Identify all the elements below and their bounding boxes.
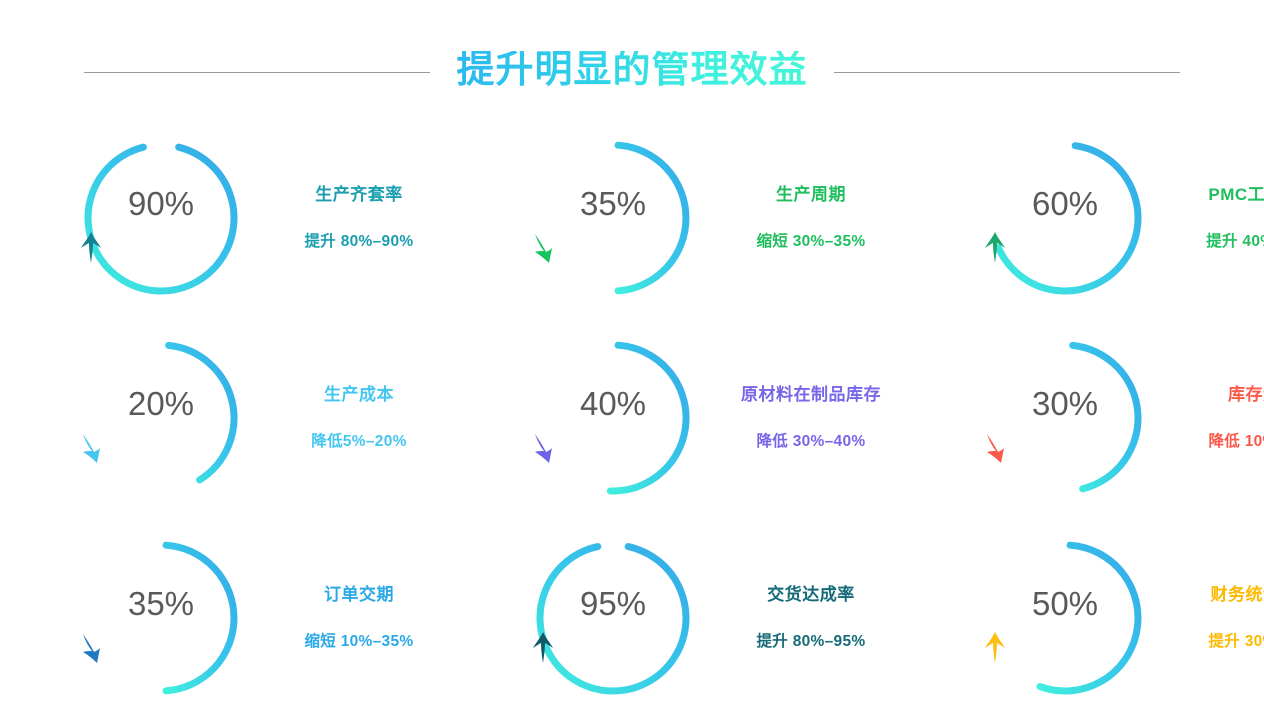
gauge-ring: 35% [530,135,696,301]
page-header: 提升明显的管理效益 [0,40,1264,104]
gauge-ring: 95% [530,535,696,701]
trend-down-icon [982,431,1148,465]
metric-card: 50%财务统计效率提升 30%–50% [904,518,1264,718]
gauge-value: 35% [530,187,696,220]
metric-text: 库存资金降低 10%–30% [1170,385,1264,452]
gauge-ring: 40% [530,335,696,501]
metric-sub-label: 提升 80%–90% [305,233,414,252]
gauge-value: 60% [982,187,1148,220]
gauge-ring: 20% [78,335,244,501]
gauge-value: 20% [78,387,244,420]
metric-sub-label: 降低 30%–40% [757,433,866,452]
metric-card: 35%生产周期缩短 30%–35% [452,118,904,318]
metric-sub-label: 提升 40%–60 % [1206,233,1264,252]
metric-card: 40%原材料在制品库存降低 30%–40% [452,318,904,518]
metric-card: 90%生产齐套率提升 80%–90% [0,118,452,318]
metric-sub-label: 降低 10%–30% [1209,433,1264,452]
trend-up-icon [982,631,1148,665]
gauge-ring: 50% [982,535,1148,701]
gauge-value: 40% [530,387,696,420]
header-rule-left [84,72,430,73]
gauge-value: 90% [78,187,244,220]
metric-label: 生产齐套率 [315,185,403,205]
header-rule-right [834,72,1180,73]
metric-card: 60%PMC工作效率提升 40%–60 % [904,118,1264,318]
gauge-ring: 30% [982,335,1148,501]
trend-down-icon [78,631,244,665]
gauge-value: 95% [530,587,696,620]
gauge-value: 50% [982,587,1148,620]
metric-text: 生产周期缩短 30%–35% [718,185,904,252]
metric-sub-label: 降低5%–20% [311,433,406,452]
metric-label: 生产周期 [776,185,846,205]
metric-text: 生产齐套率提升 80%–90% [266,185,452,252]
metric-label: 原材料在制品库存 [741,385,881,405]
metric-card: 20%生产成本降低5%–20% [0,318,452,518]
gauge-ring: 60% [982,135,1148,301]
metric-text: 交货达成率提升 80%–95% [718,585,904,652]
page-title: 提升明显的管理效益 [456,51,807,93]
metric-card: 30%库存资金降低 10%–30% [904,318,1264,518]
trend-down-icon [530,431,696,465]
metrics-grid: 90%生产齐套率提升 80%–90%35%生产周期缩短 30%–35%60%PM… [0,118,1264,710]
metric-text: 订单交期缩短 10%–35% [266,585,452,652]
metric-text: 原材料在制品库存降低 30%–40% [718,385,904,452]
trend-up-icon [78,231,244,265]
trend-down-icon [78,431,244,465]
metric-label: 交货达成率 [767,585,855,605]
metric-text: PMC工作效率提升 40%–60 % [1170,185,1264,252]
trend-up-icon [530,631,696,665]
metric-label: 生产成本 [324,385,394,405]
trend-up-icon [982,231,1148,265]
metric-label: 订单交期 [324,585,394,605]
metric-sub-label: 缩短 10%–35% [305,633,414,652]
metric-label: 财务统计效率 [1211,585,1264,605]
metric-sub-label: 提升 30%–50% [1209,633,1264,652]
metric-card: 95%交货达成率提升 80%–95% [452,518,904,718]
gauge-ring: 90% [78,135,244,301]
metric-sub-label: 提升 80%–95% [757,633,866,652]
metric-label: 库存资金 [1228,385,1264,405]
gauge-value: 35% [78,587,244,620]
gauge-ring: 35% [78,535,244,701]
trend-down-icon [530,231,696,265]
metric-label: PMC工作效率 [1208,185,1264,205]
metric-card: 35%订单交期缩短 10%–35% [0,518,452,718]
metric-text: 财务统计效率提升 30%–50% [1170,585,1264,652]
metric-text: 生产成本降低5%–20% [266,385,452,452]
metric-sub-label: 缩短 30%–35% [757,233,866,252]
gauge-value: 30% [982,387,1148,420]
